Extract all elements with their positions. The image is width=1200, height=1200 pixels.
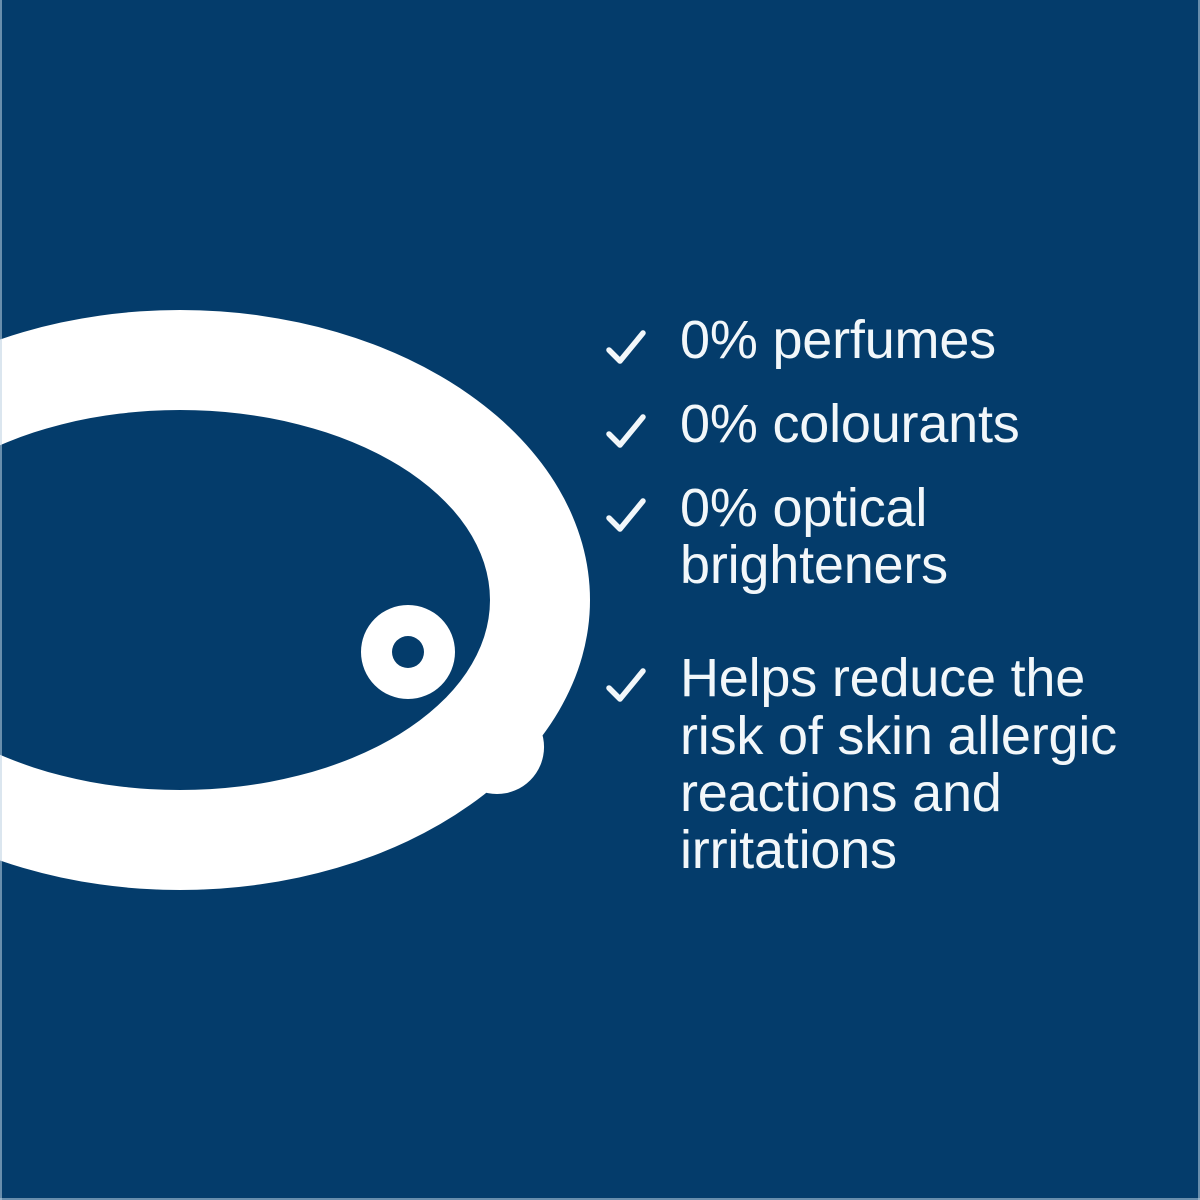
- benefit-item: 0% perfumes: [605, 312, 1175, 370]
- benefit-item: 0% colourants: [605, 396, 1175, 454]
- benefit-label: 0% optical brighteners: [680, 480, 948, 594]
- hero-zero-percent-graphic: [0, 0, 600, 1200]
- check-icon-cell: [605, 396, 680, 454]
- check-icon-cell: [605, 650, 680, 708]
- check-icon: [605, 496, 647, 538]
- benefit-label: 0% colourants: [680, 396, 1020, 453]
- zero-ring-icon: [0, 310, 590, 890]
- check-icon: [605, 328, 647, 370]
- benefit-item: Helps reduce the risk of skin allergic r…: [605, 650, 1175, 879]
- check-icon-cell: [605, 480, 680, 538]
- product-claim-panel: 0% perfumes 0% colourants 0% optical bri…: [0, 0, 1200, 1200]
- benefit-item: 0% optical brighteners: [605, 480, 1175, 594]
- check-icon-cell: [605, 312, 680, 370]
- benefits-list: 0% perfumes 0% colourants 0% optical bri…: [605, 312, 1175, 879]
- benefit-label: 0% perfumes: [680, 312, 996, 369]
- check-icon: [605, 666, 647, 708]
- benefit-label: Helps reduce the risk of skin allergic r…: [680, 650, 1117, 879]
- check-icon: [605, 412, 647, 454]
